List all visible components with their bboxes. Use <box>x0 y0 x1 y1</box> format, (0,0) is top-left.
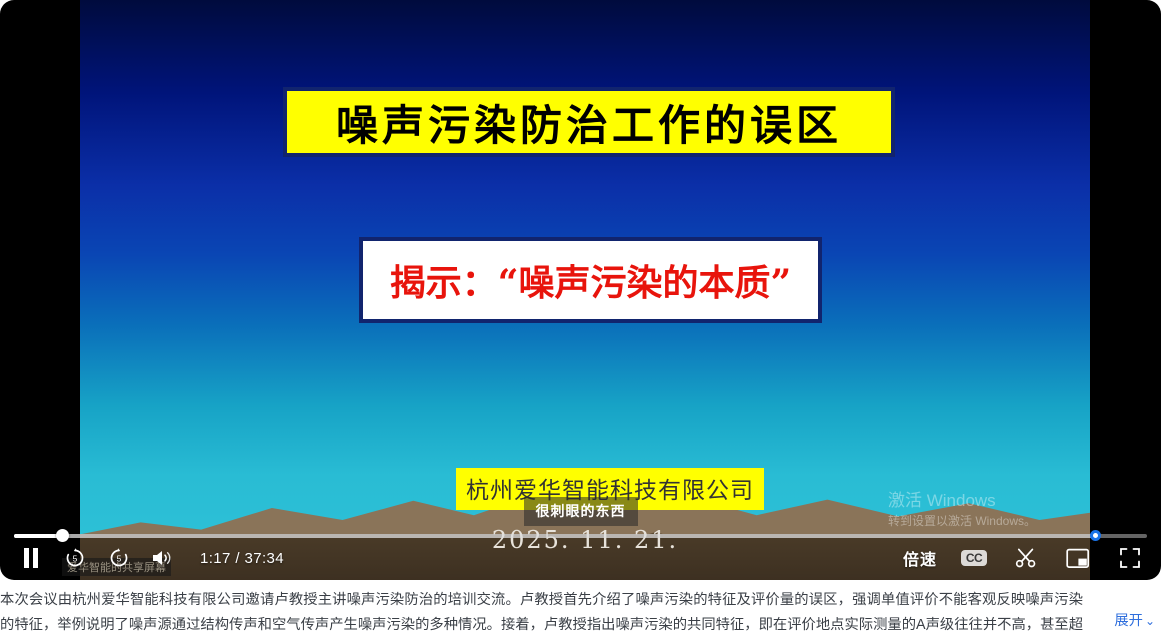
svg-text:5: 5 <box>117 554 122 564</box>
clip-button[interactable] <box>1011 541 1041 575</box>
captions-button[interactable]: CC <box>959 541 989 575</box>
fullscreen-icon <box>1119 547 1141 569</box>
time-display: 1:17 / 37:34 <box>200 550 284 567</box>
video-description-text: 本次会议由杭州爱华智能科技有限公司邀请卢教授主讲噪声污染防治的培训交流。卢教授首… <box>0 588 1161 638</box>
forward-5-button[interactable]: 5 <box>104 541 134 575</box>
chevron-down-icon: ⌄ <box>1145 614 1155 628</box>
replay-5-icon: 5 <box>63 546 87 570</box>
fullscreen-button[interactable] <box>1115 541 1145 575</box>
slide-title-text: 噪声污染防治工作的误区 <box>336 92 842 153</box>
expand-description-button[interactable]: 展开⌄ <box>1100 609 1155 634</box>
slide-subtitle-text: 揭示：“噪声污染的本质” <box>390 254 791 306</box>
player-right-controls: 倍速 CC <box>881 541 1145 575</box>
playback-speed-label: 倍速 <box>903 546 937 570</box>
cc-icon: CC <box>961 550 987 566</box>
expand-description-label: 展开 <box>1114 613 1143 629</box>
volume-icon <box>151 548 175 568</box>
video-caption: 很刺眼的东西 <box>524 497 638 526</box>
rewind-5-button[interactable]: 5 <box>60 541 90 575</box>
forward-5-icon: 5 <box>107 546 131 570</box>
pause-button[interactable] <box>16 541 46 575</box>
picture-in-picture-button[interactable] <box>1063 541 1093 575</box>
svg-text:5: 5 <box>73 554 78 564</box>
video-description: 本次会议由杭州爱华智能科技有限公司邀请卢教授主讲噪声污染防治的培训交流。卢教授首… <box>0 586 1161 637</box>
scissors-icon <box>1014 546 1038 570</box>
playback-speed-button[interactable]: 倍速 <box>903 541 937 575</box>
video-player[interactable]: 噪声污染防治工作的误区 揭示：“噪声污染的本质” 杭州爱华智能科技有限公司 20… <box>0 0 1161 580</box>
slide-subtitle-box: 揭示：“噪声污染的本质” <box>359 237 822 323</box>
slide-title-box: 噪声污染防治工作的误区 <box>283 87 895 157</box>
player-control-bar: 5 5 1:17 / 37:34 <box>0 536 1161 580</box>
video-stage[interactable]: 噪声污染防治工作的误区 揭示：“噪声污染的本质” 杭州爱华智能科技有限公司 20… <box>80 0 1090 580</box>
volume-button[interactable] <box>148 541 178 575</box>
pause-icon <box>23 548 39 568</box>
picture-in-picture-icon <box>1066 548 1090 569</box>
